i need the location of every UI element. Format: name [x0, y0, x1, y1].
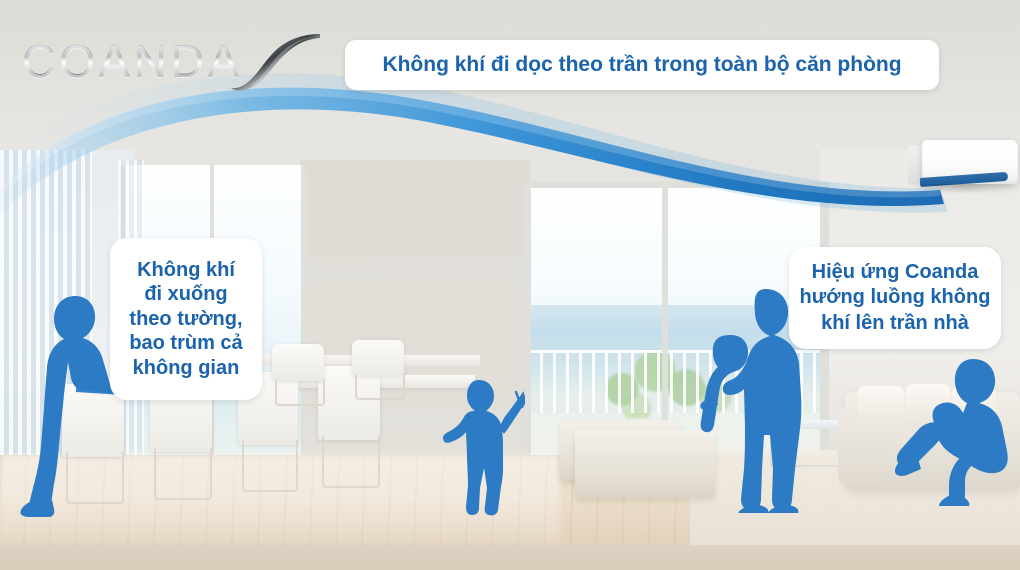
silhouette-person-seated-on-sofa	[895, 355, 1017, 507]
dining-chair	[352, 340, 404, 398]
callout-right-text: Hiệu ứng Coandahướng luồng khôngkhí lên …	[800, 260, 991, 336]
window-header	[527, 182, 827, 188]
ac-unit-shadow	[906, 184, 1018, 194]
caption-top: Không khí đi dọc theo trần trong toàn bộ…	[345, 40, 939, 90]
callout-right: Hiệu ứng Coandahướng luồng khôngkhí lên …	[789, 247, 1001, 349]
ottoman-near	[575, 430, 715, 498]
callout-left-text: Không khíđi xuốngtheo tường,bao trùm cảk…	[129, 258, 242, 380]
callout-left: Không khíđi xuốngtheo tường,bao trùm cảk…	[110, 238, 262, 400]
coanda-airflow-infographic: COANDA Không khí đi dọc theo trần trong …	[0, 0, 1020, 570]
window-mullion	[301, 165, 307, 465]
dining-chair	[272, 344, 324, 404]
caption-top-text: Không khí đi dọc theo trần trong toàn bộ…	[382, 52, 901, 78]
coanda-logo: COANDA	[22, 26, 312, 98]
floor-foreground-strip	[0, 545, 1020, 570]
coanda-swoosh-icon	[230, 32, 322, 94]
silhouette-child-arms-raised	[443, 370, 525, 516]
logo-text: COANDA	[22, 34, 243, 88]
